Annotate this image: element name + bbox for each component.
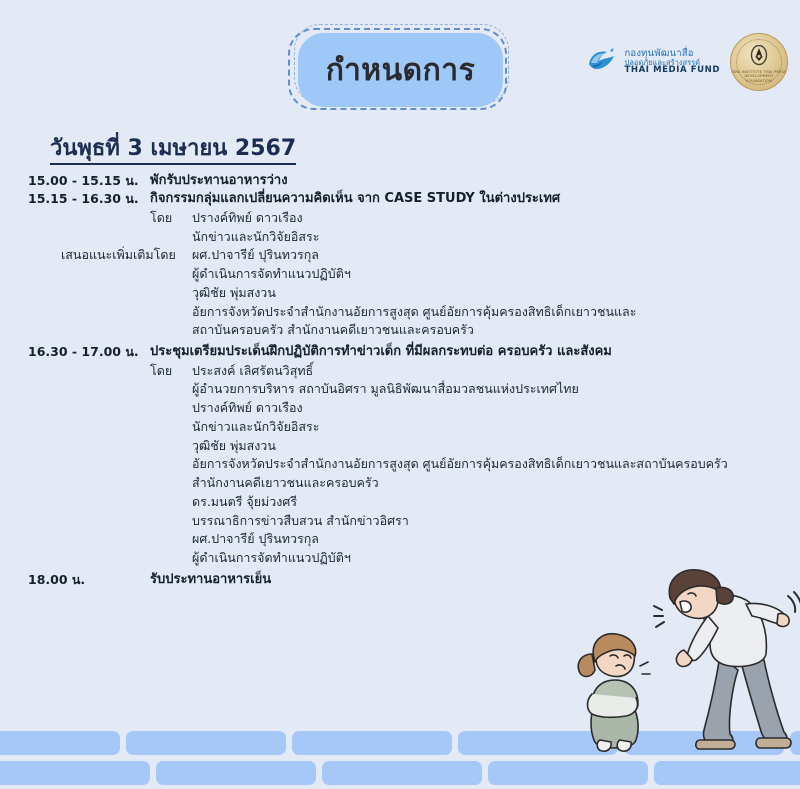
schedule-time: 16.30 - 17.00 น.: [0, 343, 150, 361]
schedule-description: พักรับประทานอาหารว่าง: [150, 172, 800, 190]
thai-media-fund-logo: กองทุนพัฒนาสื่อ ปลอดภัยและสร้างสรรค์ THA…: [585, 45, 720, 79]
schedule-detail-line: อัยการจังหวัดประจำสำนักงานอัยการสูงสุด ศ…: [150, 455, 790, 474]
schedule-detail-line: นักข่าวและนักวิจัยอิสระ: [150, 228, 790, 247]
dove-icon: [585, 45, 619, 79]
brick: [156, 761, 316, 785]
brick: [0, 761, 150, 785]
schedule-detail-value: ผศ.ปาจารีย์ ปุรินทวรกุล: [192, 246, 790, 265]
schedule-time: 15.15 - 16.30 น.: [0, 190, 150, 208]
brick: [0, 731, 120, 755]
schedule-detail-line: ดร.มนตรี จุ้ยม่วงศรี: [150, 493, 790, 512]
banner-fill: กำหนดการ: [298, 33, 503, 107]
schedule-title: พักรับประทานอาหารว่าง: [150, 172, 790, 190]
brick: [126, 731, 286, 755]
schedule-row: 15.00 - 15.15 น.พักรับประทานอาหารว่าง: [0, 172, 800, 190]
schedule-detail-line: ผู้อำนวยการบริหาร สถาบันอิศรา มูลนิธิพัฒ…: [150, 380, 790, 399]
schedule-time: 18.00 น.: [0, 571, 150, 589]
schedule-list: 15.00 - 15.15 น.พักรับประทานอาหารว่าง15.…: [0, 172, 800, 589]
schedule-description: กิจกรรมกลุ่มแลกเปลี่ยนความคิดเห็น จาก CA…: [150, 190, 800, 340]
schedule-title: กิจกรรมกลุ่มแลกเปลี่ยนความคิดเห็น จาก CA…: [150, 190, 790, 208]
schedule-detail-label: โดย: [150, 209, 192, 228]
schedule-detail-row: เสนอแนะเพิ่มเติมโดยผศ.ปาจารีย์ ปุรินทวรก…: [150, 246, 790, 265]
schedule-title: ประชุมเตรียมประเด็นฝึกปฏิบัติการทำข่าวเด…: [150, 343, 790, 361]
schedule-detail-line: วุฒิชัย พุ่มสงวน: [150, 284, 790, 303]
schedule-row: 15.15 - 16.30 น.กิจกรรมกลุ่มแลกเปลี่ยนคว…: [0, 190, 800, 340]
adult-scolding-child-illustration: [570, 558, 800, 773]
schedule-detail-label: โดย: [150, 362, 192, 381]
schedule-detail-line: บรรณาธิการข่าวสืบสวน สำนักข่าวอิศรา: [150, 512, 790, 531]
brick: [322, 761, 482, 785]
tmf-english-name: THAI MEDIA FUND: [624, 66, 720, 75]
schedule-detail-line: อัยการจังหวัดประจำสำนักงานอัยการสูงสุด ศ…: [150, 303, 790, 322]
schedule-detail-row: โดยประสงค์ เลิศรัตนวิสุทธิ์: [150, 362, 790, 381]
page-title: กำหนดการ: [326, 47, 475, 94]
schedule-detail-line: ผศ.ปาจารีย์ ปุรินทวรกุล: [150, 530, 790, 549]
schedule-detail-line: สถาบันครอบครัว สำนักงานคดีเยาวชนและครอบค…: [150, 321, 790, 340]
schedule-row: 16.30 - 17.00 น.ประชุมเตรียมประเด็นฝึกปฏ…: [0, 343, 800, 568]
schedule-detail-value: ปรางค์ทิพย์ ดาวเรือง: [192, 209, 790, 228]
brick: [292, 731, 452, 755]
schedule-detail-line: สำนักงานคดีเยาวชนและครอบครัว: [150, 474, 790, 493]
schedule-detail-line: ผู้ดำเนินการจัดทำแนวปฏิบัติฯ: [150, 265, 790, 284]
seal-ring: [736, 39, 782, 85]
schedule-description: ประชุมเตรียมประเด็นฝึกปฏิบัติการทำข่าวเด…: [150, 343, 800, 568]
date-heading: วันพุธที่ 3 เมษายน 2567: [50, 136, 296, 165]
schedule-detail-value: ประสงค์ เลิศรัตนวิสุทธิ์: [192, 362, 790, 381]
schedule-detail-line: ปรางค์ทิพย์ ดาวเรือง: [150, 399, 790, 418]
schedule-detail-row: โดยปรางค์ทิพย์ ดาวเรือง: [150, 209, 790, 228]
schedule-detail-label: เสนอแนะเพิ่มเติมโดย: [61, 246, 192, 265]
schedule-time: 15.00 - 15.15 น.: [0, 172, 150, 190]
isra-seal-logo: ISRA INSTITUTE THAI PRESS DEVELOPMENT FO…: [730, 33, 788, 91]
logo-group: กองทุนพัฒนาสื่อ ปลอดภัยและสร้างสรรค์ THA…: [585, 33, 788, 91]
schedule-detail-line: วุฒิชัย พุ่มสงวน: [150, 437, 790, 456]
schedule-detail-line: นักข่าวและนักวิจัยอิสระ: [150, 418, 790, 437]
title-banner: กำหนดการ: [292, 33, 507, 111]
